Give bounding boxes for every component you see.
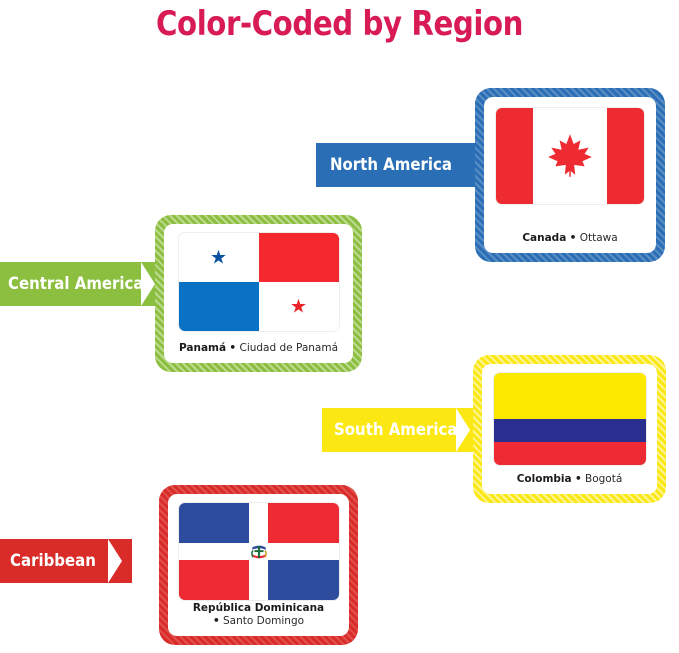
panama-flag: ★ ★ (179, 233, 339, 331)
capital-name: Ottawa (580, 232, 618, 244)
maple-leaf-icon (544, 128, 596, 184)
capital-name: Bogotá (585, 473, 622, 485)
card-inner: ★ ★ Panamá • Ciudad de Panamá (164, 224, 353, 363)
country-name: Canada (522, 232, 566, 244)
capital-name: Ciudad de Panamá (239, 342, 338, 354)
caption-separator: • (575, 473, 582, 485)
page-title: Color-Coded by Region (48, 4, 632, 44)
country-name: República Dominicana (193, 602, 324, 614)
country-card-dominican-republic[interactable]: República Dominicana • Santo Domingo (159, 485, 358, 645)
country-name: Panamá (179, 342, 226, 354)
country-name: Colombia (517, 473, 572, 485)
card-caption: Panamá • Ciudad de Panamá (179, 342, 338, 355)
banner-notch-caribbean (108, 539, 132, 583)
region-banner-south-america[interactable]: South America (322, 408, 456, 452)
region-banner-central-america[interactable]: Central America (0, 262, 141, 306)
caption-separator: • (213, 615, 220, 627)
banner-notch-north-america (452, 143, 476, 187)
caption-separator: • (570, 232, 577, 244)
country-card-panama[interactable]: ★ ★ Panamá • Ciudad de Panamá (155, 215, 362, 372)
country-card-colombia[interactable]: Colombia • Bogotá (473, 355, 666, 503)
country-card-canada[interactable]: Canada • Ottawa (475, 88, 665, 262)
colombia-flag (494, 373, 646, 465)
region-banner-label: North America (330, 155, 452, 175)
star-icon: ★ (210, 248, 227, 267)
region-banner-label: Central America (8, 274, 144, 294)
card-caption: República Dominicana • Santo Domingo (193, 602, 324, 628)
dominican-republic-flag (179, 503, 339, 600)
coat-of-arms-icon (244, 537, 274, 567)
canada-flag (496, 108, 644, 204)
card-inner: Canada • Ottawa (484, 97, 656, 253)
region-banner-label: Caribbean (10, 551, 96, 571)
card-caption: Canada • Ottawa (522, 232, 617, 245)
card-inner: Colombia • Bogotá (482, 364, 657, 494)
card-caption: Colombia • Bogotá (517, 473, 623, 486)
region-banner-label: South America (334, 420, 458, 440)
card-inner: República Dominicana • Santo Domingo (168, 494, 349, 636)
capital-name: Santo Domingo (223, 615, 304, 627)
caption-separator: • (229, 342, 236, 354)
star-icon: ★ (290, 297, 307, 316)
region-banner-caribbean[interactable]: Caribbean (0, 539, 108, 583)
